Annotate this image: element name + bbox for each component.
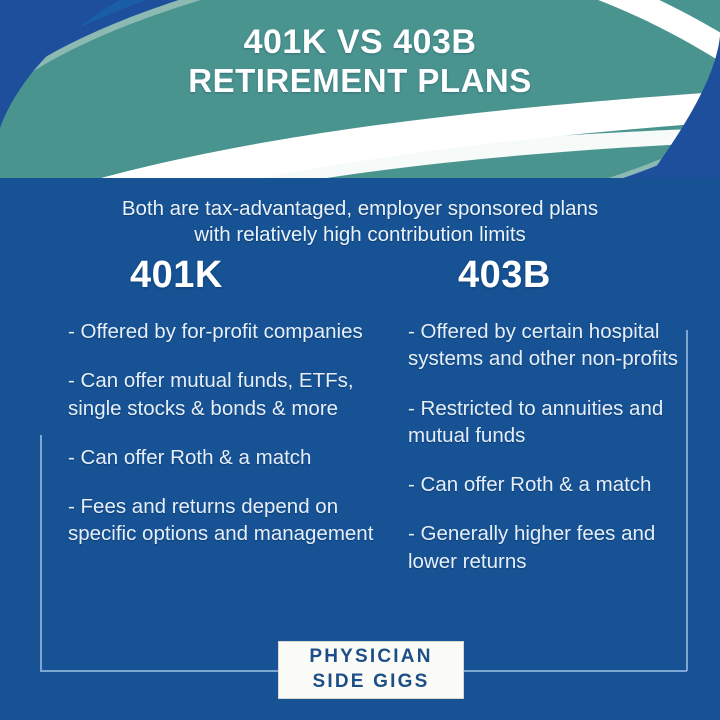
physician-side-gigs-logo: PHYSICIAN SIDE GIGS xyxy=(278,641,464,699)
list-item: - Can offer Roth & a match xyxy=(68,444,380,471)
list-item: - Generally higher fees and lower return… xyxy=(408,520,694,575)
title-line-2: RETIREMENT PLANS xyxy=(0,62,720,101)
list-item: - Offered by certain hospital systems an… xyxy=(408,318,694,373)
column-401k-heading: 401K xyxy=(130,256,380,294)
column-403b: 403B - Offered by certain hospital syste… xyxy=(404,256,694,575)
column-403b-heading: 403B xyxy=(458,256,694,294)
subtitle: Both are tax-advantaged, employer sponso… xyxy=(0,196,720,248)
frame-border-left xyxy=(40,435,42,671)
infographic-page: 401K VS 403B RETIREMENT PLANS Both are t… xyxy=(0,0,720,720)
header-banner: 401K VS 403B RETIREMENT PLANS xyxy=(0,0,720,178)
page-title: 401K VS 403B RETIREMENT PLANS xyxy=(0,22,720,101)
list-item: - Fees and returns depend on specific op… xyxy=(68,493,380,548)
frame-border-bottom-right xyxy=(452,670,687,672)
frame-border-bottom-left xyxy=(40,670,280,672)
list-item: - Restricted to annuities and mutual fun… xyxy=(408,395,694,450)
list-item: - Can offer Roth & a match xyxy=(408,471,694,498)
logo-line-1: PHYSICIAN xyxy=(309,645,432,670)
list-item: - Can offer mutual funds, ETFs, single s… xyxy=(68,367,380,422)
subtitle-line-1: Both are tax-advantaged, employer sponso… xyxy=(0,196,720,222)
list-item: - Offered by for-profit companies xyxy=(68,318,380,345)
title-line-1: 401K VS 403B xyxy=(0,22,720,62)
subtitle-line-2: with relatively high contribution limits xyxy=(0,222,720,248)
logo-line-2: SIDE GIGS xyxy=(313,670,430,695)
column-401k: 401K - Offered by for-profit companies -… xyxy=(62,256,380,548)
